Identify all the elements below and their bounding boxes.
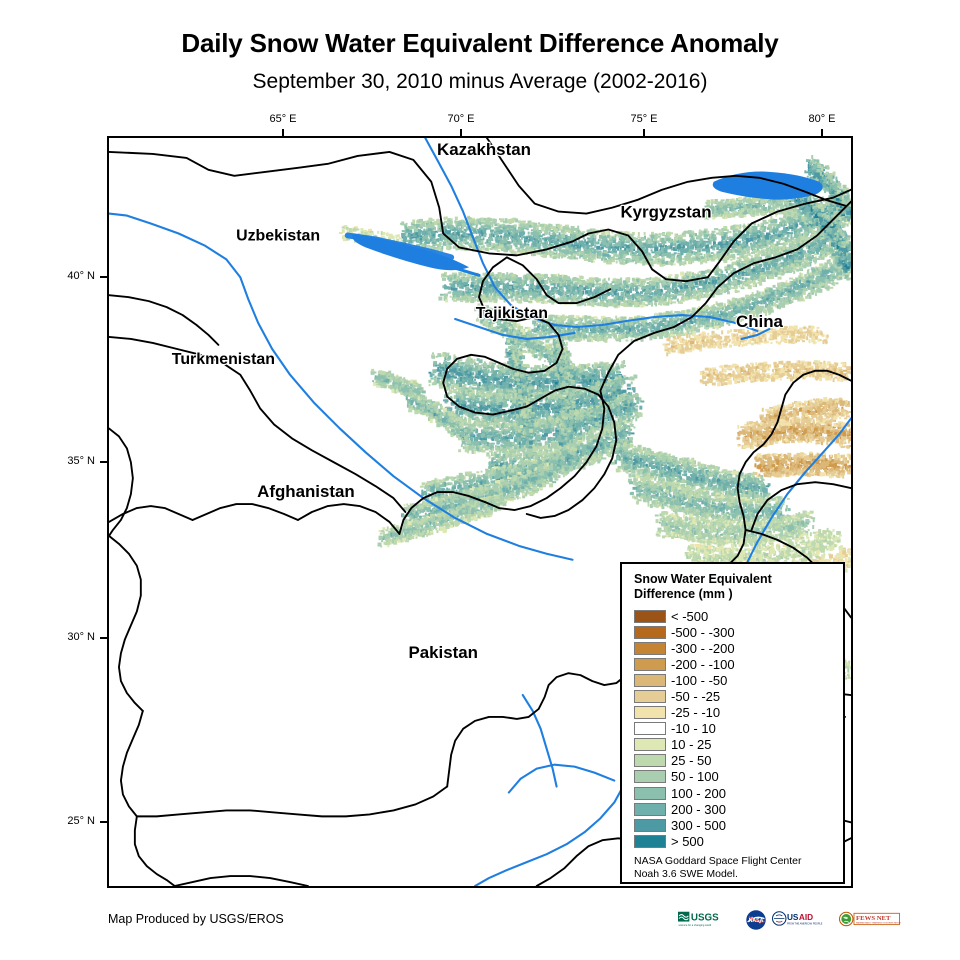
map-credit: Map Produced by USGS/EROS xyxy=(108,912,284,926)
country-label: Tajikistan xyxy=(476,305,548,322)
legend-label: -50 - -25 xyxy=(671,690,720,703)
legend-row: 50 - 100 xyxy=(634,769,843,785)
legend-label: -10 - 10 xyxy=(671,722,716,735)
country-label: Turkmenistan xyxy=(172,351,275,368)
country-label: Kazakhstan xyxy=(437,140,531,159)
legend-label: < -500 xyxy=(671,610,708,623)
legend-footer-line1: NASA Goddard Space Flight Center xyxy=(634,855,843,868)
legend-row: 200 - 300 xyxy=(634,801,843,817)
legend-swatch xyxy=(634,770,666,783)
legend-row: 10 - 25 xyxy=(634,737,843,753)
legend-label: -300 - -200 xyxy=(671,642,735,655)
legend-swatch xyxy=(634,787,666,800)
legend-footer: NASA Goddard Space Flight Center Noah 3.… xyxy=(634,855,843,881)
legend-swatch xyxy=(634,626,666,639)
legend-footer-line2: Noah 3.6 SWE Model. xyxy=(634,868,843,881)
lon-tick-label: 70° E xyxy=(431,113,491,125)
legend-title-line2: Difference (mm ) xyxy=(634,587,834,602)
country-label: China xyxy=(736,312,784,331)
lat-tick-label: 40° N xyxy=(35,270,95,282)
legend-label: -100 - -50 xyxy=(671,674,727,687)
country-label: Kyrgyzstan xyxy=(620,203,711,222)
legend-label: 10 - 25 xyxy=(671,738,711,751)
legend-label: > 500 xyxy=(671,835,704,848)
legend-label: -25 - -10 xyxy=(671,706,720,719)
legend-label: -500 - -300 xyxy=(671,626,735,639)
legend-row: 100 - 200 xyxy=(634,785,843,801)
legend-swatch xyxy=(634,803,666,816)
legend-swatch xyxy=(634,706,666,719)
usgs-logo: USGS science for a changing world xyxy=(678,909,740,931)
legend-swatch xyxy=(634,690,666,703)
legend-label: 200 - 300 xyxy=(671,803,726,816)
legend-row: -25 - -10 xyxy=(634,705,843,721)
legend-swatch xyxy=(634,754,666,767)
legend-row: 300 - 500 xyxy=(634,817,843,833)
agency-logos: USGS science for a changing world NASA U… xyxy=(678,908,901,932)
map-legend: Snow Water Equivalent Difference (mm ) <… xyxy=(620,562,845,884)
legend-row: -50 - -25 xyxy=(634,688,843,704)
country-label: Afghanistan xyxy=(257,482,355,501)
country-label: Uzbekistan xyxy=(236,227,320,244)
legend-label: 50 - 100 xyxy=(671,770,719,783)
legend-row: -100 - -50 xyxy=(634,672,843,688)
legend-swatch xyxy=(634,819,666,832)
usaid-logo: US AID FROM THE AMERICAN PEOPLE xyxy=(772,909,834,931)
legend-swatch xyxy=(634,642,666,655)
legend-swatch xyxy=(634,658,666,671)
lat-tick-label: 35° N xyxy=(35,455,95,467)
legend-row: > 500 xyxy=(634,833,843,849)
legend-swatch xyxy=(634,738,666,751)
legend-label: 300 - 500 xyxy=(671,819,726,832)
legend-label: 100 - 200 xyxy=(671,787,726,800)
legend-swatch xyxy=(634,610,666,623)
legend-row: -300 - -200 xyxy=(634,640,843,656)
lat-tick-label: 30° N xyxy=(35,631,95,643)
legend-title-line1: Snow Water Equivalent xyxy=(634,572,834,587)
nasa-logo: NASA xyxy=(745,909,767,931)
fewsnet-logo: FEWS NET FAMINE EARLY WARNING SYSTEMS NE… xyxy=(839,909,901,931)
legend-label: 25 - 50 xyxy=(671,754,711,767)
map-page: Daily Snow Water Equivalent Difference A… xyxy=(0,0,960,960)
legend-class-list: < -500-500 - -300-300 - -200-200 - -100-… xyxy=(634,608,843,849)
legend-title: Snow Water Equivalent Difference (mm ) xyxy=(634,572,834,602)
lon-tick-label: 75° E xyxy=(614,113,674,125)
country-label: Pakistan xyxy=(408,643,477,662)
lon-tick-label: 65° E xyxy=(253,113,313,125)
legend-row: -500 - -300 xyxy=(634,624,843,640)
legend-row: -10 - 10 xyxy=(634,721,843,737)
legend-swatch xyxy=(634,835,666,848)
legend-row: < -500 xyxy=(634,608,843,624)
lat-tick-label: 25° N xyxy=(35,815,95,827)
legend-swatch xyxy=(634,674,666,687)
page-subtitle: September 30, 2010 minus Average (2002-2… xyxy=(0,70,960,94)
legend-row: 25 - 50 xyxy=(634,753,843,769)
lon-tick-label: 80° E xyxy=(792,113,852,125)
legend-label: -200 - -100 xyxy=(671,658,735,671)
page-title: Daily Snow Water Equivalent Difference A… xyxy=(0,28,960,59)
legend-swatch xyxy=(634,722,666,735)
legend-row: -200 - -100 xyxy=(634,656,843,672)
